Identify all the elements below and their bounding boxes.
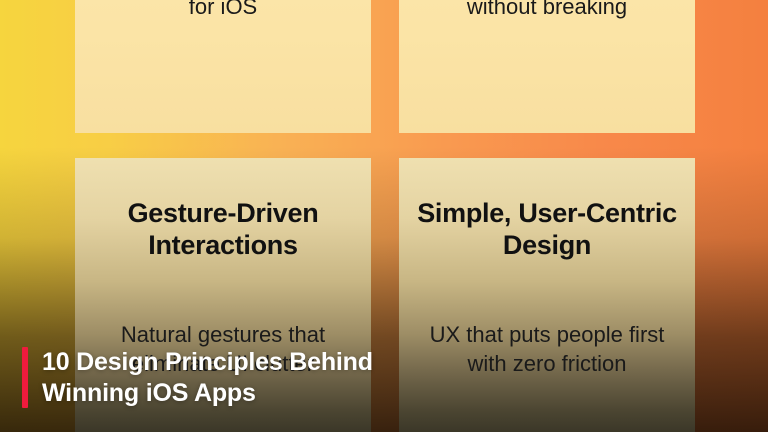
caption-accent-bar: [22, 347, 28, 408]
card-native-components[interactable]: Native components and design patterns op…: [75, 0, 371, 133]
card-title: Simple, User-Centric Design: [415, 198, 679, 261]
caption-title: 10 Design Principles Behind Winning iOS …: [42, 347, 462, 408]
card-title: Gesture-Driven Interactions: [91, 198, 355, 261]
card-responsive-design[interactable]: Pixel-perfect design that bends, shifts …: [399, 0, 695, 133]
slide-canvas: Native components and design patterns op…: [0, 0, 768, 432]
card-body: Pixel-perfect design that bends, shifts …: [415, 0, 679, 22]
video-caption: 10 Design Principles Behind Winning iOS …: [22, 347, 462, 408]
card-body: Native components and design patterns op…: [91, 0, 355, 22]
